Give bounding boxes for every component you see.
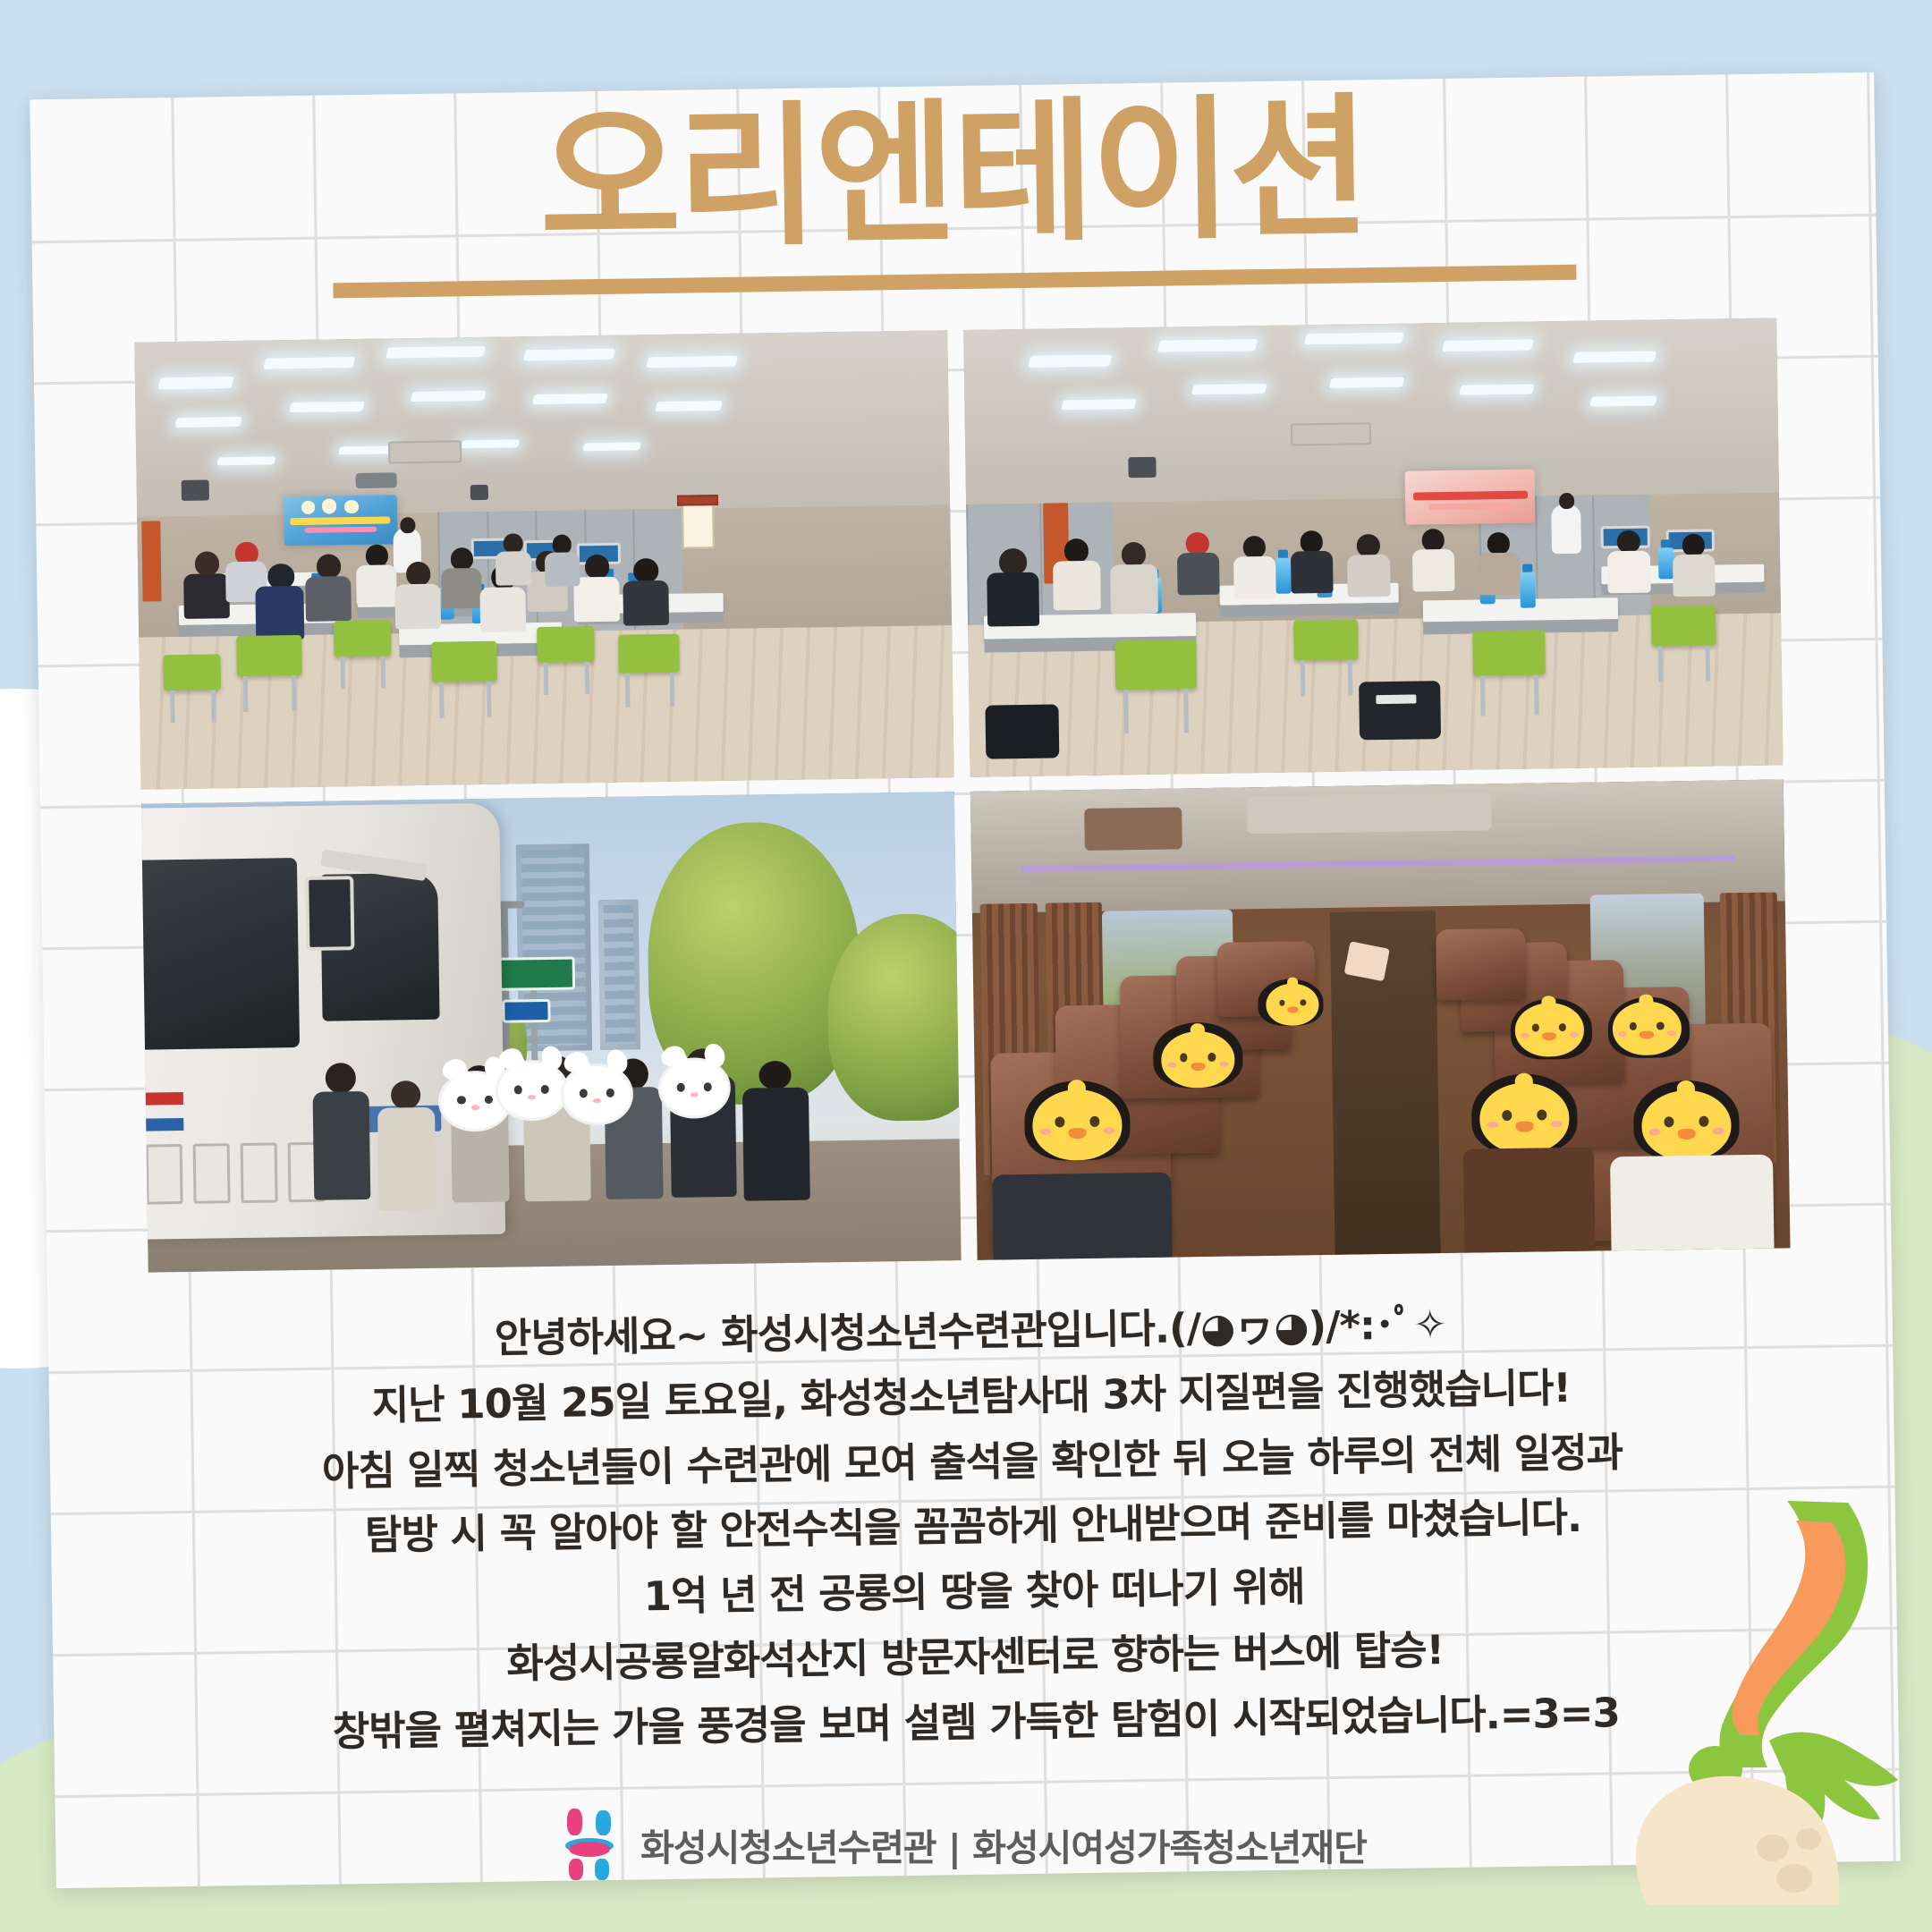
chick-face-sticker <box>1612 1001 1682 1055</box>
footer-organization-text: 화성시청소년수련관 | 화성시여성가족청소년재단 <box>640 1818 1367 1871</box>
chick-face-sticker <box>1161 1031 1235 1089</box>
foundation-logo-icon <box>565 1809 621 1880</box>
footer-separator: | <box>948 1826 961 1869</box>
chick-face-sticker <box>1641 1089 1732 1161</box>
footer-org-primary: 화성시청소년수련관 <box>640 1826 936 1869</box>
page-title: 오리엔테이션 <box>30 78 1877 271</box>
body-text: 안녕하세요~ 화성시청소년수련관입니다.(/◕ヮ◕)/*:･ﾟ✧ 지난 10월 … <box>129 1287 1817 1768</box>
footer-org-secondary: 화성시여성가족청소년재단 <box>972 1826 1367 1869</box>
photo-classroom-wide <box>134 330 953 789</box>
title-underline <box>333 265 1576 299</box>
title-section: 오리엔테이션 <box>30 72 1877 302</box>
chick-face-sticker <box>1031 1089 1122 1161</box>
chick-face-sticker <box>1266 983 1319 1026</box>
chick-face-sticker <box>1479 1082 1569 1154</box>
chick-face-sticker <box>1514 1003 1584 1057</box>
footer: 화성시청소년수련관 | 화성시여성가족청소년재단 <box>0 1809 1932 1880</box>
photo-grid <box>134 318 1790 1272</box>
photo-classroom-angle <box>963 318 1783 776</box>
photo-bus-interior <box>970 779 1791 1259</box>
photo-bus-boarding <box>141 792 962 1272</box>
cat-face-sticker <box>560 1063 634 1125</box>
